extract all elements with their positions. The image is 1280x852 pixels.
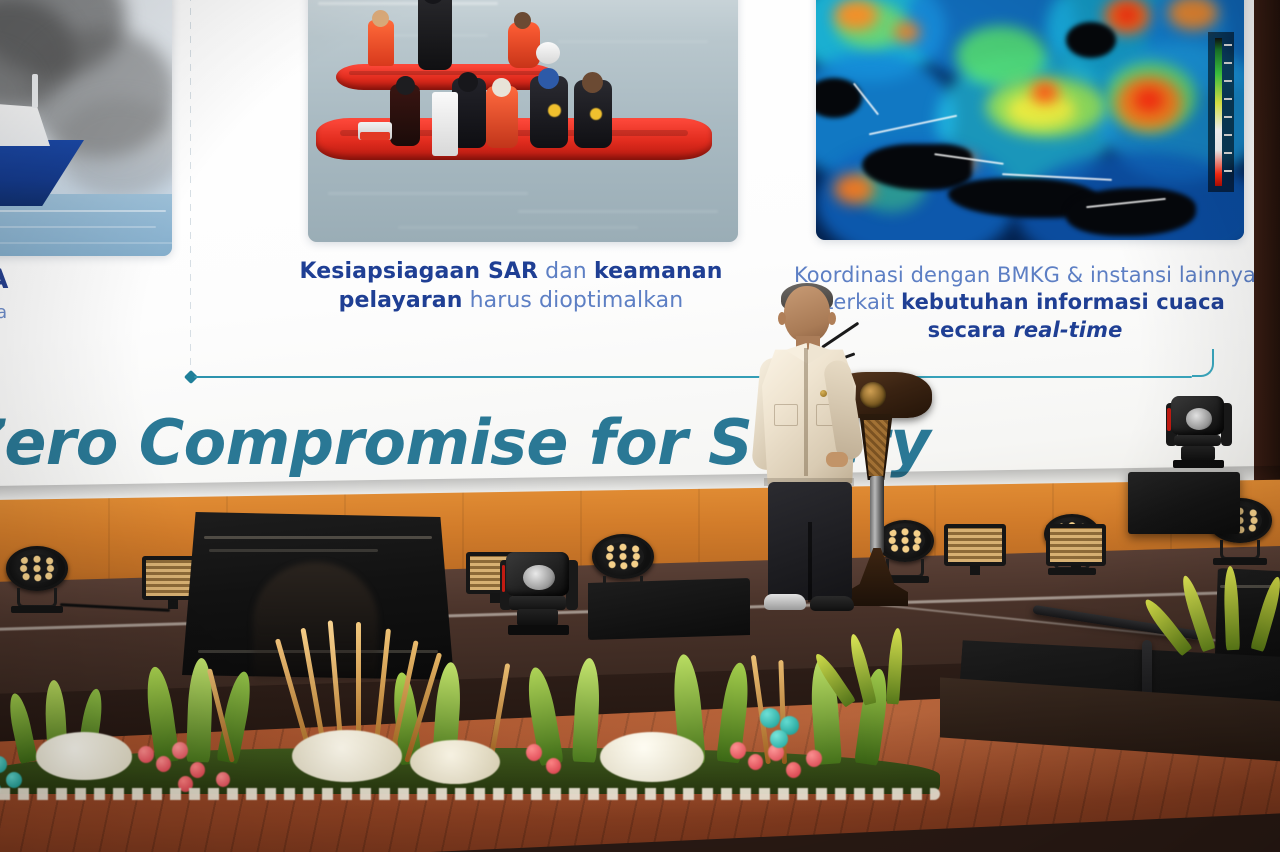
caption-left-main: A	[0, 264, 9, 295]
projection-screen: A ra Kesiapsiagaan SAR dan keamanan pela…	[0, 0, 1258, 510]
white-flower-cluster	[600, 732, 704, 782]
palm-frond-decor	[1176, 556, 1280, 666]
moving-head-light	[1166, 396, 1232, 480]
accent-rule-hook	[1192, 349, 1214, 377]
slide-headline: Zero Compromise for Safety	[0, 406, 840, 479]
sar-rescue-boats-photo	[308, 0, 738, 242]
floral-arrangement	[0, 614, 940, 794]
presenter-at-podium	[748, 286, 868, 616]
pink-flower	[730, 742, 746, 759]
pink-flower	[190, 762, 205, 778]
caption-mid-part-2: dan	[538, 259, 594, 284]
slide-vertical-divider	[190, 0, 191, 368]
photo-scene: A ra Kesiapsiagaan SAR dan keamanan pela…	[0, 0, 1280, 852]
podium-metal-post	[870, 476, 884, 554]
side-wall	[1254, 0, 1280, 510]
white-stone-border	[0, 788, 940, 800]
teal-flower	[760, 708, 780, 728]
presenter-ear	[778, 312, 786, 325]
pink-flower	[156, 756, 171, 772]
presenter-hand	[826, 452, 848, 467]
led-flood-panel	[1046, 524, 1106, 566]
white-flower-cluster	[36, 732, 132, 780]
pink-flower	[208, 750, 224, 767]
presenter-ear	[828, 312, 836, 325]
led-flood-panel	[944, 524, 1006, 566]
slide-caption-left: A ra	[0, 262, 118, 324]
teal-flower	[6, 772, 22, 788]
caption-mid-part-4: harus dioptimalkan	[463, 288, 684, 313]
pink-flower	[172, 742, 188, 759]
presenter-head	[784, 286, 830, 342]
pink-flower	[748, 754, 763, 770]
equipment-riser-box	[1128, 472, 1240, 534]
slide-caption-middle: Kesiapsiagaan SAR dan keamanan pelayaran…	[266, 258, 756, 315]
palm-frond-decor	[840, 618, 950, 714]
par-led-light	[6, 546, 68, 608]
caption-right-part-3: secara	[928, 318, 1014, 342]
caption-left-sub: ra	[0, 301, 118, 324]
pink-flower	[138, 746, 154, 763]
slide-accent-rule	[186, 375, 1214, 378]
teal-flower	[770, 730, 788, 748]
caption-mid-part-1: Kesiapsiagaan SAR	[299, 259, 538, 284]
caption-right-part-2: kebutuhan informasi cuaca	[901, 290, 1225, 314]
accent-rule-line	[194, 376, 1192, 378]
pink-flower	[216, 772, 230, 787]
presenter-leg-separation	[808, 522, 812, 602]
presenter-shirt-pocket	[774, 404, 798, 426]
presenter-shoe-right	[810, 596, 854, 611]
burning-ship-photo	[0, 0, 172, 256]
pink-flower	[546, 758, 561, 774]
weather-colour-scale	[1208, 32, 1234, 192]
pink-flower	[786, 762, 801, 778]
white-flower-cluster	[410, 740, 500, 784]
caption-right-part-4: real-time	[1013, 318, 1122, 342]
presenter-shirt-placket	[804, 348, 808, 476]
weather-satellite-map-photo	[816, 0, 1244, 240]
pink-flower	[526, 744, 542, 761]
presenter-shoe-left	[764, 594, 806, 610]
white-flower-cluster	[292, 730, 402, 782]
pink-flower	[806, 750, 822, 767]
